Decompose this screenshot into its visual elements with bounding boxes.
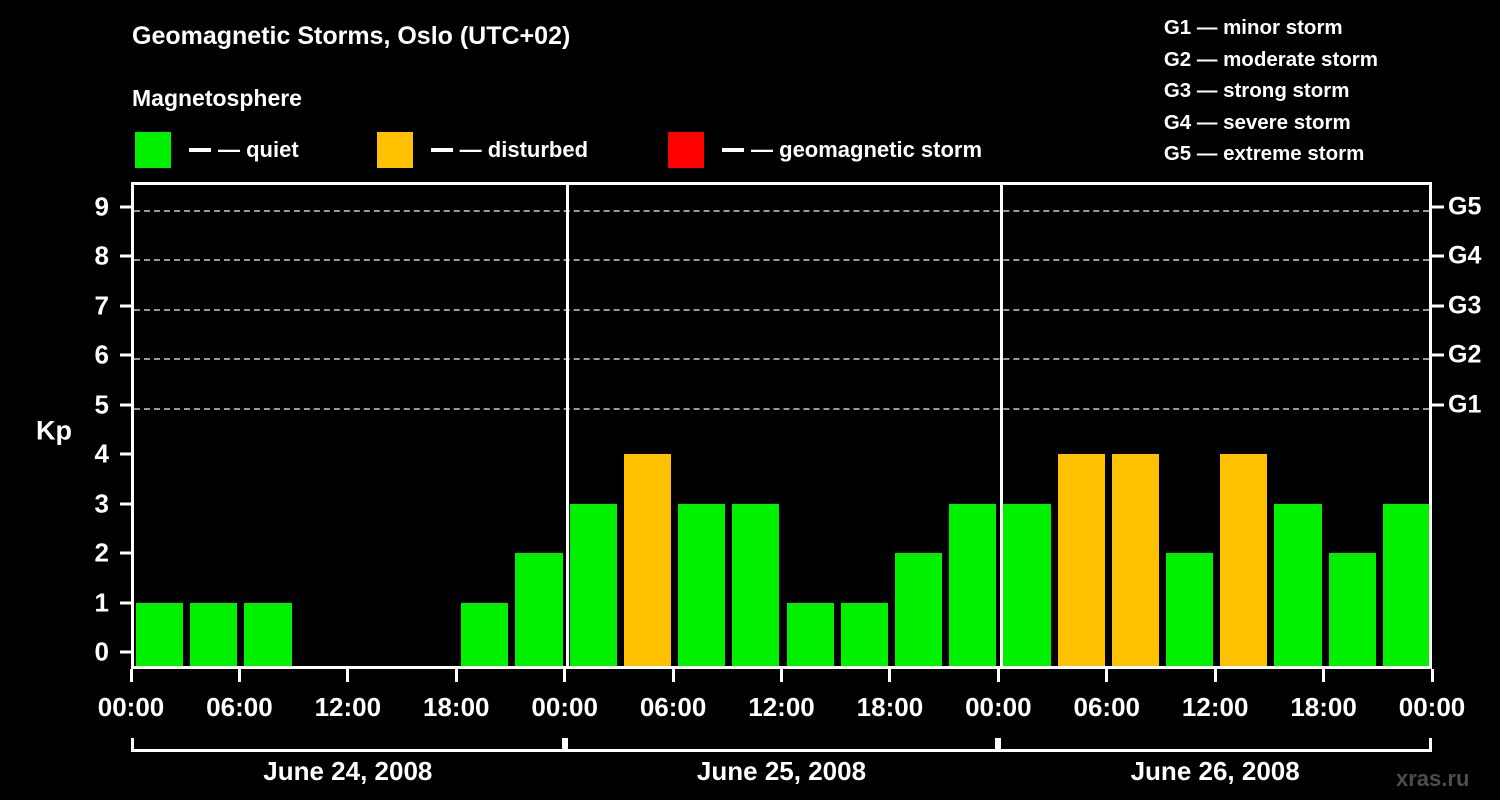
bar[interactable]: [461, 603, 508, 667]
y-tick-mark: [120, 651, 131, 654]
g-tick-label-g2: G2: [1448, 341, 1481, 370]
bar[interactable]: [136, 603, 183, 667]
gscale-line-g5: G5 — extreme storm: [1164, 138, 1378, 170]
bar[interactable]: [244, 603, 291, 667]
gridline-kp-8: [134, 259, 1429, 261]
x-tick-mark: [238, 669, 241, 682]
gscale-line-g2: G2 — moderate storm: [1164, 44, 1378, 76]
g-tick-label-g4: G4: [1448, 242, 1481, 271]
day-bracket: [131, 738, 565, 752]
x-tick-mark: [997, 669, 1000, 682]
legend-item-disturbed: — disturbed: [377, 132, 588, 168]
gscale-line-g3: G3 — strong storm: [1164, 75, 1378, 107]
bar[interactable]: [1003, 504, 1050, 667]
day-label: June 24, 2008: [131, 756, 565, 787]
gridline-kp-9: [134, 210, 1429, 212]
legend-swatch-quiet: [135, 132, 171, 168]
gridline-kp-6: [134, 358, 1429, 360]
bar[interactable]: [732, 504, 779, 667]
watermark: xras.ru: [1396, 766, 1469, 792]
y-tick-label: 1: [69, 587, 109, 618]
g-tick-mark: [1432, 354, 1444, 357]
day-bracket: [565, 738, 999, 752]
g-tick-label-g5: G5: [1448, 192, 1481, 221]
legend-label-storm: — geomagnetic storm: [751, 137, 982, 163]
y-tick-label: 9: [69, 191, 109, 222]
day-separator: [1000, 185, 1003, 666]
legend-dash-icon: [431, 148, 453, 152]
bar[interactable]: [678, 504, 725, 667]
x-tick-mark: [888, 669, 891, 682]
legend-dash-icon: [189, 148, 211, 152]
legend-swatch-disturbed: [377, 132, 413, 168]
day-label: June 26, 2008: [998, 756, 1432, 787]
g-tick-label-g1: G1: [1448, 390, 1481, 419]
legend: — quiet — disturbed — geomagnetic storm: [135, 132, 982, 168]
gridline-kp-5: [134, 408, 1429, 410]
g-tick-mark: [1432, 403, 1444, 406]
legend-label-disturbed: — disturbed: [460, 137, 588, 163]
bar[interactable]: [190, 603, 237, 667]
legend-swatch-storm: [668, 132, 704, 168]
bar[interactable]: [1220, 454, 1267, 666]
y-tick-label: 7: [69, 290, 109, 321]
g-tick-mark: [1432, 255, 1444, 258]
x-tick-mark: [1431, 669, 1434, 682]
y-tick-label: 2: [69, 538, 109, 569]
gscale-line-g1: G1 — minor storm: [1164, 12, 1378, 44]
bar[interactable]: [949, 504, 996, 667]
x-tick-mark: [563, 669, 566, 682]
chart-root: Geomagnetic Storms, Oslo (UTC+02) Magnet…: [0, 0, 1500, 800]
y-tick-mark: [120, 601, 131, 604]
y-tick-mark: [120, 255, 131, 258]
x-tick-mark: [455, 669, 458, 682]
bar[interactable]: [1383, 504, 1430, 667]
bar[interactable]: [895, 553, 942, 666]
y-tick-mark: [120, 304, 131, 307]
y-axis-title: Kp: [36, 416, 72, 447]
legend-item-quiet: — quiet: [135, 132, 299, 168]
bar[interactable]: [570, 504, 617, 667]
legend-item-storm: — geomagnetic storm: [668, 132, 982, 168]
y-tick-mark: [120, 502, 131, 505]
y-tick-mark: [120, 403, 131, 406]
g-tick-mark: [1432, 205, 1444, 208]
x-tick-mark: [780, 669, 783, 682]
bar[interactable]: [624, 454, 671, 666]
gscale-line-g4: G4 — severe storm: [1164, 107, 1378, 139]
magnetosphere-label: Magnetosphere: [132, 85, 302, 112]
y-tick-label: 8: [69, 241, 109, 272]
y-tick-label: 0: [69, 637, 109, 668]
y-tick-mark: [120, 205, 131, 208]
bar[interactable]: [841, 603, 888, 667]
day-separator: [566, 185, 569, 666]
x-tick-mark: [1214, 669, 1217, 682]
day-bracket: [998, 738, 1432, 752]
bar[interactable]: [1329, 553, 1376, 666]
legend-label-quiet: — quiet: [218, 137, 299, 163]
bar[interactable]: [1112, 454, 1159, 666]
page-title: Geomagnetic Storms, Oslo (UTC+02): [132, 22, 570, 51]
x-tick-mark: [1322, 669, 1325, 682]
bar[interactable]: [1058, 454, 1105, 666]
gscale-legend: G1 — minor storm G2 — moderate storm G3 …: [1164, 12, 1378, 170]
x-tick-mark: [346, 669, 349, 682]
legend-dash-icon: [722, 148, 744, 152]
bar[interactable]: [515, 553, 562, 666]
g-tick-mark: [1432, 304, 1444, 307]
bar[interactable]: [787, 603, 834, 667]
x-tick-label: 00:00: [1367, 692, 1497, 723]
gridline-kp-7: [134, 309, 1429, 311]
x-tick-mark: [672, 669, 675, 682]
y-tick-label: 5: [69, 389, 109, 420]
bar[interactable]: [1166, 553, 1213, 666]
bar[interactable]: [1274, 504, 1321, 667]
y-tick-label: 4: [69, 439, 109, 470]
day-label: June 25, 2008: [565, 756, 999, 787]
g-tick-label-g3: G3: [1448, 291, 1481, 320]
y-tick-mark: [120, 453, 131, 456]
plot-area: [131, 182, 1432, 666]
x-tick-mark: [1105, 669, 1108, 682]
y-tick-label: 6: [69, 340, 109, 371]
y-tick-mark: [120, 354, 131, 357]
y-tick-label: 3: [69, 488, 109, 519]
y-tick-mark: [120, 552, 131, 555]
x-tick-mark: [130, 669, 133, 682]
